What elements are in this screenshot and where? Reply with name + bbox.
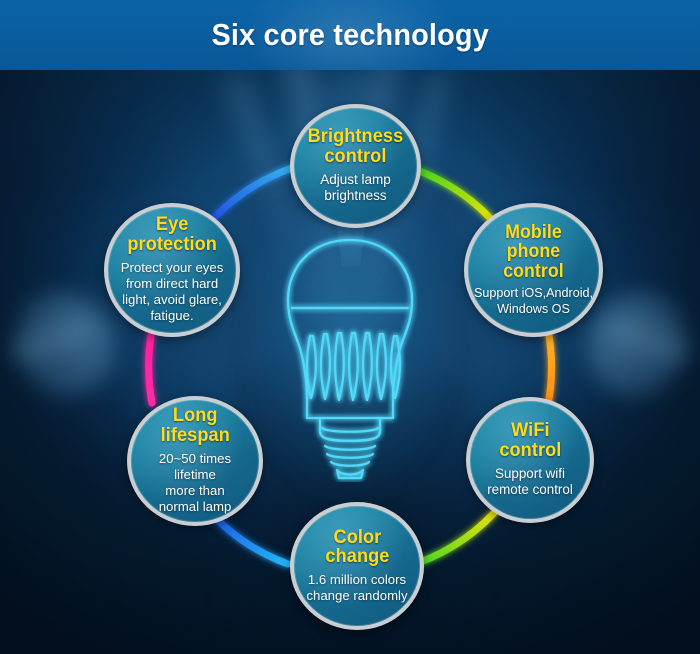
infographic-poster: Six core technology xyxy=(0,0,700,654)
arc-lifespan-to-eye xyxy=(149,330,152,403)
node-wifi-control[interactable]: WiFi control Support wifi remote control xyxy=(466,397,594,523)
node-color-change[interactable]: Color change 1.6 million colors change r… xyxy=(290,502,424,630)
arc-wifi-to-color xyxy=(418,504,502,563)
header-bar: Six core technology xyxy=(0,0,700,70)
page-title: Six core technology xyxy=(211,17,489,53)
node-title: Color change xyxy=(325,528,389,568)
node-title: Brightness control xyxy=(308,127,404,167)
node-mobile-phone-control[interactable]: Mobile phone control Support iOS,Android… xyxy=(464,203,603,337)
node-description: 20~50 times lifetime more than normal la… xyxy=(137,451,253,515)
node-title: WiFi control xyxy=(499,421,561,461)
node-description: Protect your eyes from direct hard light… xyxy=(121,260,224,324)
light-bulb-icon xyxy=(265,232,435,482)
node-description: 1.6 million colors change randomly xyxy=(306,572,407,604)
node-title: Mobile phone control xyxy=(478,223,589,281)
node-title: Long lifespan xyxy=(160,406,229,446)
node-description: Support wifi remote control xyxy=(487,466,573,499)
node-long-lifespan[interactable]: Long lifespan 20~50 times lifetime more … xyxy=(127,396,263,526)
node-brightness-control[interactable]: Brightness control Adjust lamp brightnes… xyxy=(290,104,421,228)
node-eye-protection[interactable]: Eye protection Protect your eyes from di… xyxy=(104,203,240,337)
node-description: Support iOS,Android, Windows OS xyxy=(474,286,593,317)
node-title: Eye protection xyxy=(127,215,217,255)
arc-mobile-to-wifi xyxy=(548,330,552,405)
node-description: Adjust lamp brightness xyxy=(320,172,391,205)
